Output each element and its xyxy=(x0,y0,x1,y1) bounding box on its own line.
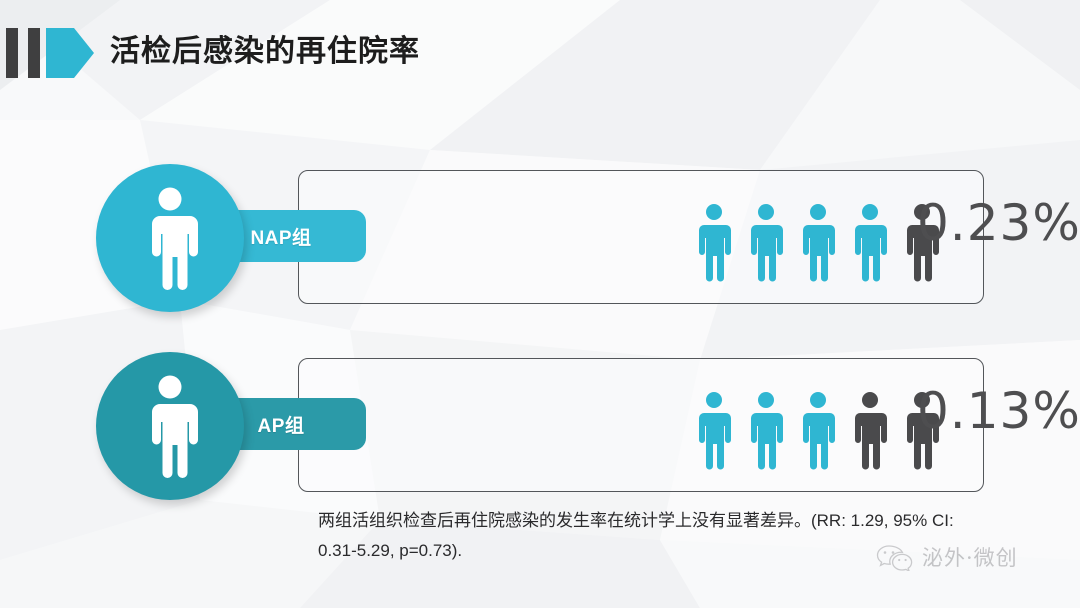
slide-header: 活检后感染的再住院率 xyxy=(0,0,1080,108)
caption-text: 两组活组织检查后再住院感染的发生率在统计学上没有显著差异。(RR: 1.29, … xyxy=(318,506,958,566)
watermark: 泌外·微创 xyxy=(876,542,1018,572)
group-card-ap: 0.13% xyxy=(298,358,984,492)
pictogram-row-nap xyxy=(695,203,941,283)
person-icon xyxy=(799,391,837,471)
person-icon-large xyxy=(139,186,201,290)
header-bar-left xyxy=(6,28,18,78)
person-icon-large xyxy=(139,374,201,478)
pictogram-row-ap xyxy=(695,391,941,471)
watermark-text: 泌外·微创 xyxy=(922,542,1018,572)
wechat-icon xyxy=(876,543,914,571)
page-title: 活检后感染的再住院率 xyxy=(110,26,420,78)
header-bar-right xyxy=(28,28,40,78)
group-avatar-ap[interactable] xyxy=(96,352,244,500)
person-icon xyxy=(747,203,785,283)
person-icon xyxy=(695,391,733,471)
person-icon xyxy=(747,391,785,471)
person-icon xyxy=(799,203,837,283)
person-icon xyxy=(851,203,889,283)
arrow-right-icon xyxy=(46,28,94,78)
group-avatar-nap[interactable] xyxy=(96,164,244,312)
value-ap: 0.13% xyxy=(917,381,1080,441)
value-nap: 0.23% xyxy=(917,193,1080,253)
group-card-nap: 0.23% xyxy=(298,170,984,304)
person-icon-muted xyxy=(851,391,889,471)
group-label-text: NAP组 xyxy=(250,223,311,250)
person-icon xyxy=(695,203,733,283)
slide-canvas: 活检后感染的再住院率 xyxy=(0,0,1080,608)
group-label-text: AP组 xyxy=(258,411,305,438)
